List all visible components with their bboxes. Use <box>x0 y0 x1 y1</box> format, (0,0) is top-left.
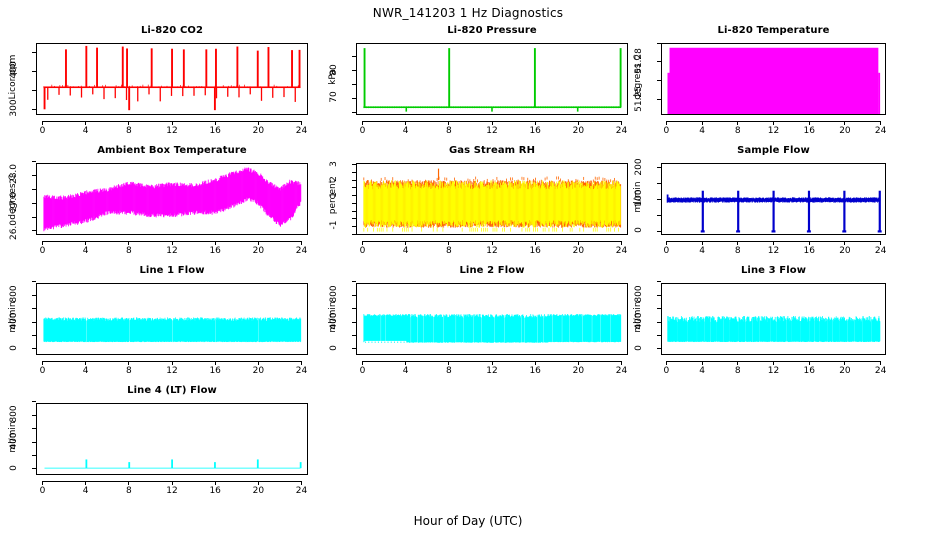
y-tick <box>657 43 661 44</box>
x-tick <box>492 241 493 245</box>
y-axis-label: degrees C <box>633 42 643 112</box>
x-tick <box>621 241 622 245</box>
x-tick-label: 4 <box>394 366 418 376</box>
y-tick <box>352 56 356 57</box>
y-tick <box>352 112 356 113</box>
diagnostics-figure: NWR_141203 1 Hz Diagnostics Hour of Day … <box>0 0 936 540</box>
x-tick <box>666 361 667 365</box>
plot-area-li820-temperature <box>661 43 886 115</box>
x-tick-label: 16 <box>523 246 547 256</box>
y-axis-label: Licor ppm <box>8 42 18 112</box>
y-tick <box>32 401 36 402</box>
x-tick <box>85 361 86 365</box>
x-tick-label: 12 <box>480 366 504 376</box>
x-tick-label: 12 <box>160 126 184 136</box>
x-tick <box>215 481 216 485</box>
plot-area-line-1-flow <box>36 283 308 355</box>
plot-area-sample-flow <box>661 163 886 235</box>
y-tick <box>352 98 356 99</box>
plot-area-ambient-box-temperature <box>36 163 308 235</box>
x-tick-label: 0 <box>30 246 54 256</box>
x-tick <box>809 121 810 125</box>
figure-xlabel: Hour of Day (UTC) <box>0 514 936 528</box>
x-tick-label: 8 <box>437 366 461 376</box>
x-tick <box>215 361 216 365</box>
x-tick-label: 12 <box>160 366 184 376</box>
panel-line-1-flow: Line 1 Flow0400800ml/min04812162024 <box>0 265 308 377</box>
x-tick-label: 4 <box>74 246 98 256</box>
x-tick-label: 12 <box>480 246 504 256</box>
y-tick <box>352 211 356 212</box>
x-tick <box>578 241 579 245</box>
x-tick-label: 24 <box>290 366 314 376</box>
x-tick-label: 12 <box>160 246 184 256</box>
x-tick <box>405 361 406 365</box>
y-tick <box>32 71 36 72</box>
x-tick-label: 24 <box>869 366 893 376</box>
x-tick <box>880 241 881 245</box>
y-tick <box>657 183 661 184</box>
plot-area-li820-co2 <box>36 43 308 115</box>
x-tick-label: 8 <box>117 486 141 496</box>
x-tick-label: 24 <box>869 126 893 136</box>
x-tick-label: 8 <box>117 126 141 136</box>
y-tick <box>32 322 36 323</box>
y-tick <box>32 217 36 218</box>
x-tick <box>773 241 774 245</box>
x-tick <box>258 121 259 125</box>
x-tick-label: 20 <box>246 486 270 496</box>
y-tick <box>352 195 356 196</box>
y-tick <box>657 167 661 168</box>
x-tick <box>666 241 667 245</box>
x-tick <box>448 121 449 125</box>
x-tick-label: 12 <box>762 246 786 256</box>
x-tick <box>702 241 703 245</box>
panel-line-2-flow: Line 2 Flow0400800ml/min04812162024 <box>320 265 628 377</box>
y-tick <box>657 215 661 216</box>
x-tick <box>258 361 259 365</box>
y-tick <box>32 203 36 204</box>
panel-line-3-flow: Line 3 Flow0400800ml/min04812162024 <box>625 265 886 377</box>
y-tick <box>657 281 661 282</box>
x-tick-label: 24 <box>290 486 314 496</box>
x-tick-label: 12 <box>762 126 786 136</box>
x-tick <box>215 121 216 125</box>
x-tick-label: 0 <box>350 246 374 256</box>
x-tick-label: 4 <box>690 126 714 136</box>
y-tick <box>352 322 356 323</box>
x-tick <box>42 361 43 365</box>
x-tick <box>301 361 302 365</box>
y-tick <box>32 428 36 429</box>
x-tick <box>42 241 43 245</box>
x-tick-label: 8 <box>117 366 141 376</box>
x-tick <box>258 481 259 485</box>
y-tick <box>32 281 36 282</box>
x-tick <box>405 121 406 125</box>
x-tick <box>773 121 774 125</box>
x-tick <box>578 361 579 365</box>
x-tick <box>42 481 43 485</box>
x-tick <box>578 121 579 125</box>
x-tick-label: 16 <box>203 366 227 376</box>
panel-title-li820-temperature: Li-820 Temperature <box>661 25 886 36</box>
plot-area-line-3-flow <box>661 283 886 355</box>
x-tick <box>362 121 363 125</box>
y-axis-label: ml/min <box>8 402 18 472</box>
y-tick <box>352 203 356 204</box>
x-tick-label: 8 <box>726 126 750 136</box>
x-tick <box>809 241 810 245</box>
x-tick-label: 12 <box>160 486 184 496</box>
plot-area-line-2-flow <box>356 283 628 355</box>
y-tick <box>657 322 661 323</box>
x-tick-label: 4 <box>394 126 418 136</box>
x-tick <box>702 361 703 365</box>
x-tick-label: 4 <box>74 126 98 136</box>
x-tick-label: 4 <box>690 246 714 256</box>
x-tick <box>362 361 363 365</box>
x-tick <box>492 361 493 365</box>
x-tick-label: 16 <box>797 366 821 376</box>
x-tick-label: 24 <box>290 246 314 256</box>
x-tick <box>128 481 129 485</box>
x-tick <box>666 121 667 125</box>
x-tick-label: 20 <box>833 126 857 136</box>
y-tick <box>32 230 36 231</box>
y-tick <box>32 455 36 456</box>
x-tick <box>258 241 259 245</box>
x-tick-label: 8 <box>726 246 750 256</box>
x-tick-label: 16 <box>203 486 227 496</box>
y-tick <box>657 199 661 200</box>
x-tick-label: 24 <box>869 246 893 256</box>
y-tick <box>352 218 356 219</box>
x-tick-label: 20 <box>566 366 590 376</box>
x-tick-label: 16 <box>797 126 821 136</box>
x-tick <box>301 241 302 245</box>
x-tick <box>535 121 536 125</box>
x-tick <box>301 121 302 125</box>
y-tick <box>32 415 36 416</box>
y-tick <box>32 308 36 309</box>
x-tick-label: 16 <box>523 126 547 136</box>
y-tick <box>32 175 36 176</box>
y-tick <box>32 90 36 91</box>
y-tick <box>32 189 36 190</box>
x-tick-label: 20 <box>246 126 270 136</box>
x-tick-label: 4 <box>74 486 98 496</box>
x-tick-label: 8 <box>117 246 141 256</box>
y-tick <box>657 61 661 62</box>
x-tick-label: 0 <box>654 246 678 256</box>
x-tick <box>172 361 173 365</box>
y-tick <box>352 84 356 85</box>
x-tick-label: 12 <box>480 126 504 136</box>
y-tick <box>352 335 356 336</box>
x-tick <box>301 481 302 485</box>
y-tick <box>352 172 356 173</box>
x-tick <box>535 361 536 365</box>
x-tick-label: 4 <box>394 246 418 256</box>
x-tick <box>128 241 129 245</box>
x-tick <box>85 481 86 485</box>
y-tick <box>352 180 356 181</box>
plot-area-li820-pressure <box>356 43 628 115</box>
y-tick <box>352 164 356 165</box>
x-tick-label: 0 <box>654 126 678 136</box>
x-tick <box>809 361 810 365</box>
panel-title-ambient-box-temperature: Ambient Box Temperature <box>36 145 308 156</box>
x-tick-label: 8 <box>437 246 461 256</box>
x-tick-label: 24 <box>290 126 314 136</box>
panel-li820-temperature: Li-820 Temperature51.2551.28degrees C048… <box>625 25 886 137</box>
y-axis-label: ml/min <box>8 282 18 352</box>
x-tick-label: 16 <box>797 246 821 256</box>
y-tick <box>657 295 661 296</box>
x-tick-label: 0 <box>30 486 54 496</box>
y-axis-label: ml/min <box>633 282 643 352</box>
x-tick <box>128 361 129 365</box>
panel-title-li820-co2: Li-820 CO2 <box>36 25 308 36</box>
panel-sample-flow: Sample Flow0100200ml/min04812162024 <box>625 145 886 257</box>
x-tick-label: 0 <box>654 366 678 376</box>
x-tick-label: 4 <box>690 366 714 376</box>
y-axis-label: kPa <box>328 42 338 112</box>
panel-ambient-box-temperature: Ambient Box Temperature26.027.028.0degre… <box>0 145 308 257</box>
x-tick-label: 0 <box>30 126 54 136</box>
y-tick <box>32 335 36 336</box>
x-tick <box>880 121 881 125</box>
y-tick <box>32 161 36 162</box>
plot-area-gas-stream-rh <box>356 163 628 235</box>
x-tick <box>85 241 86 245</box>
x-tick-label: 4 <box>74 366 98 376</box>
x-tick <box>737 121 738 125</box>
x-tick-label: 20 <box>566 126 590 136</box>
y-tick <box>352 187 356 188</box>
y-tick <box>657 231 661 232</box>
x-tick <box>844 121 845 125</box>
x-tick <box>172 241 173 245</box>
y-tick <box>352 295 356 296</box>
x-tick <box>844 361 845 365</box>
panel-title-li820-pressure: Li-820 Pressure <box>356 25 628 36</box>
y-axis-label: degrees C <box>8 162 18 232</box>
x-tick-label: 0 <box>350 366 374 376</box>
x-tick <box>448 361 449 365</box>
x-tick <box>85 121 86 125</box>
y-tick <box>352 226 356 227</box>
y-axis-label: ml/min <box>633 162 643 232</box>
y-tick <box>32 348 36 349</box>
plot-area-line-4-lt-flow <box>36 403 308 475</box>
x-tick <box>737 361 738 365</box>
x-tick <box>621 121 622 125</box>
y-tick <box>32 295 36 296</box>
y-tick <box>32 442 36 443</box>
y-tick <box>352 308 356 309</box>
x-tick-label: 0 <box>30 366 54 376</box>
y-tick <box>657 80 661 81</box>
x-tick-label: 16 <box>203 246 227 256</box>
x-tick <box>773 361 774 365</box>
x-tick-label: 20 <box>246 366 270 376</box>
x-tick <box>880 361 881 365</box>
x-tick <box>42 121 43 125</box>
panel-title-line-2-flow: Line 2 Flow <box>356 265 628 276</box>
x-tick-label: 20 <box>246 246 270 256</box>
x-tick-label: 20 <box>833 366 857 376</box>
panel-gas-stream-rh: Gas Stream RH-1123percent04812162024 <box>320 145 628 257</box>
x-tick <box>448 241 449 245</box>
x-tick <box>172 481 173 485</box>
y-axis-label: ml/min <box>328 282 338 352</box>
x-tick <box>621 361 622 365</box>
x-tick <box>492 121 493 125</box>
panel-title-line-1-flow: Line 1 Flow <box>36 265 308 276</box>
y-tick <box>32 52 36 53</box>
x-tick <box>844 241 845 245</box>
x-tick-label: 16 <box>203 126 227 136</box>
y-tick <box>657 99 661 100</box>
x-tick-label: 12 <box>762 366 786 376</box>
x-tick <box>128 121 129 125</box>
x-tick <box>737 241 738 245</box>
y-tick <box>657 335 661 336</box>
x-tick-label: 20 <box>566 246 590 256</box>
y-tick <box>32 109 36 110</box>
x-tick <box>215 241 216 245</box>
panel-li820-co2: Li-820 CO2300400Licor ppm04812162024 <box>0 25 308 137</box>
y-tick <box>352 234 356 235</box>
y-tick <box>32 468 36 469</box>
x-tick-label: 8 <box>437 126 461 136</box>
figure-title: NWR_141203 1 Hz Diagnostics <box>0 6 936 20</box>
y-tick <box>352 70 356 71</box>
panel-li820-pressure: Li-820 Pressure7080kPa04812162024 <box>320 25 628 137</box>
x-tick-label: 8 <box>726 366 750 376</box>
y-axis-label: percent <box>328 162 338 232</box>
x-tick-label: 20 <box>833 246 857 256</box>
panel-line-4-lt-flow: Line 4 (LT) Flow0400800ml/min04812162024 <box>0 385 308 497</box>
panel-title-line-4-lt-flow: Line 4 (LT) Flow <box>36 385 308 396</box>
x-tick-label: 0 <box>350 126 374 136</box>
x-tick-label: 16 <box>523 366 547 376</box>
y-tick <box>352 348 356 349</box>
x-tick <box>172 121 173 125</box>
panel-title-line-3-flow: Line 3 Flow <box>661 265 886 276</box>
x-tick <box>362 241 363 245</box>
x-tick <box>535 241 536 245</box>
y-tick <box>657 348 661 349</box>
x-tick <box>702 121 703 125</box>
y-tick <box>352 281 356 282</box>
panel-title-gas-stream-rh: Gas Stream RH <box>356 145 628 156</box>
y-tick <box>657 308 661 309</box>
x-tick <box>405 241 406 245</box>
panel-title-sample-flow: Sample Flow <box>661 145 886 156</box>
